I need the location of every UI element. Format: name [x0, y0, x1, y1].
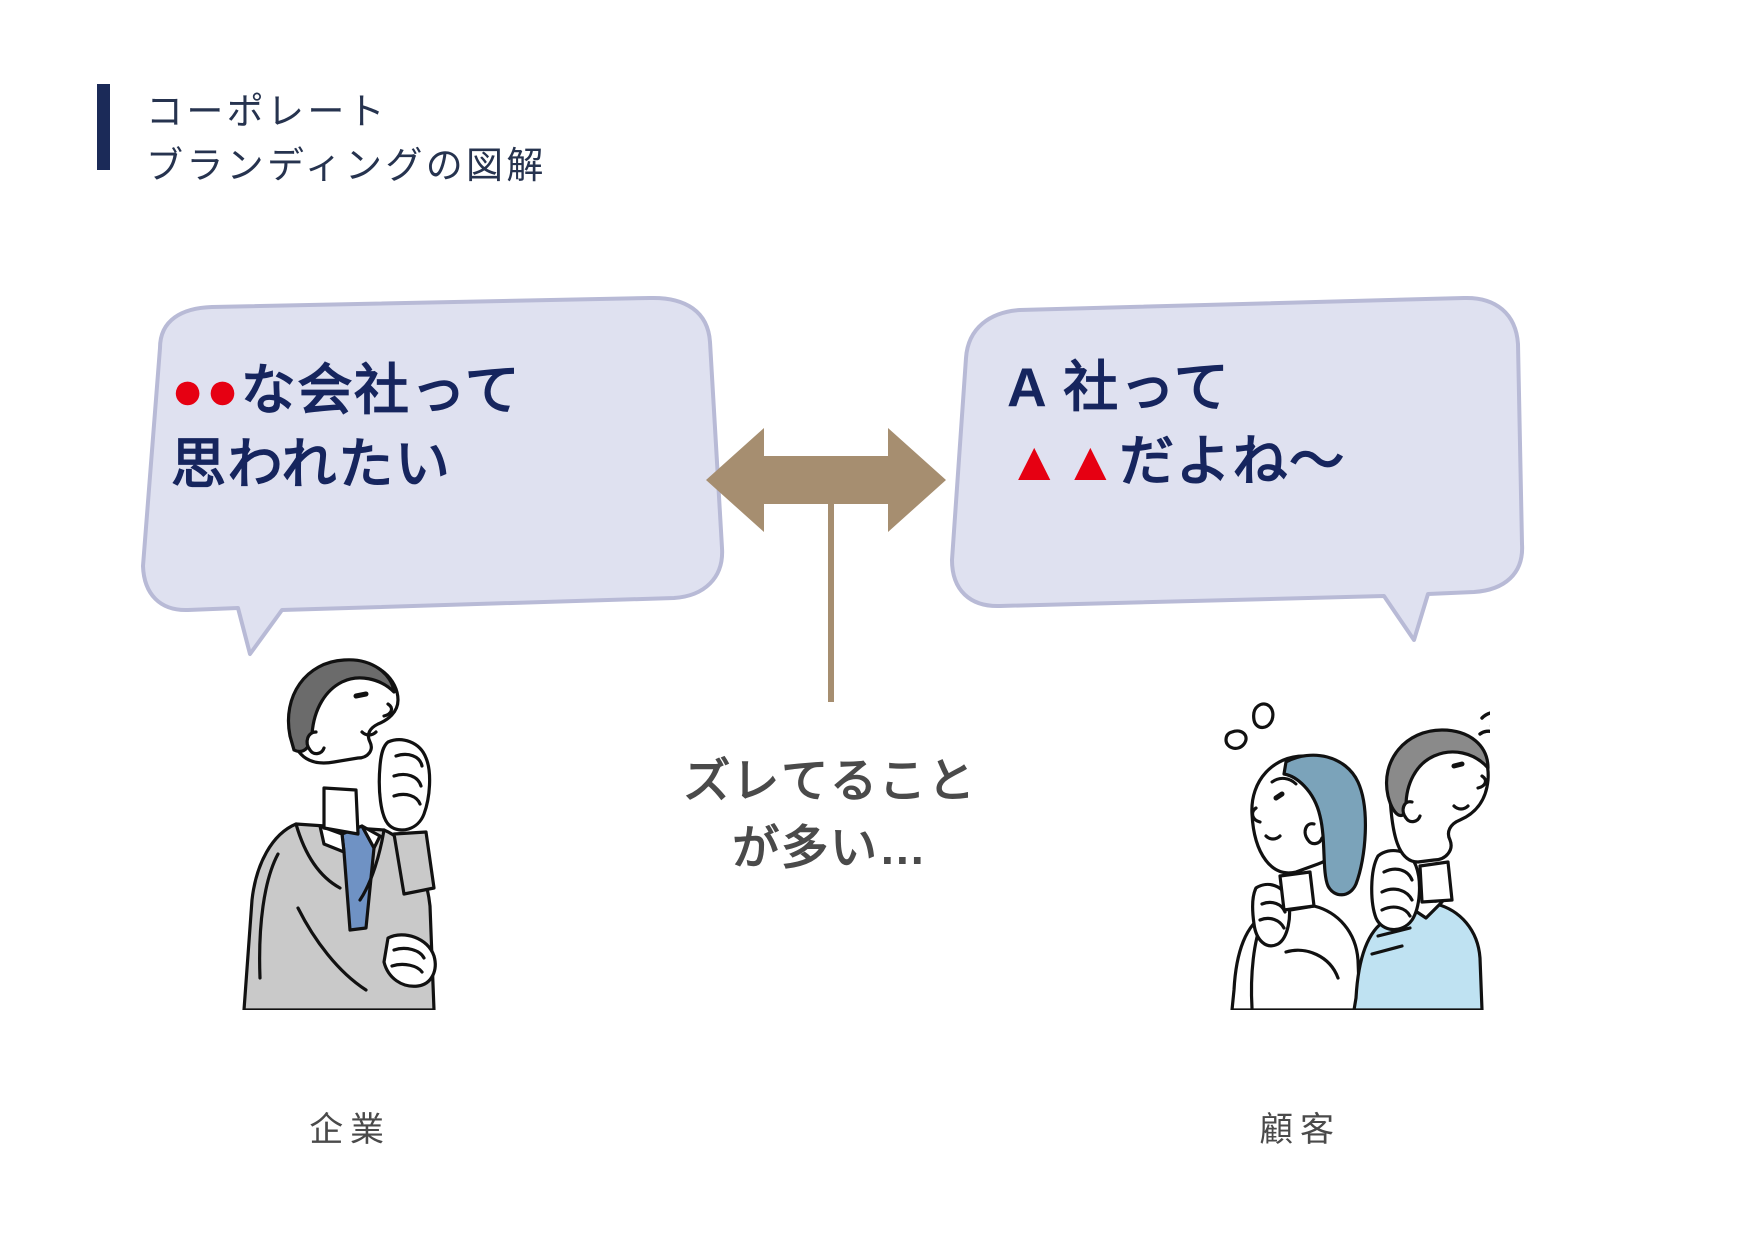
double-headed-arrow-icon — [706, 424, 946, 536]
speech-bubble-company: ●●な会社って 思われたい — [130, 296, 730, 651]
bubble-customer-line2: ▲▲だよね〜 — [1007, 425, 1346, 499]
bubble-company-line1: ●●な会社って — [171, 354, 521, 428]
misalignment-caption: ズレてること が多い… — [600, 748, 1060, 881]
bubble-customer-line2-text: だよね〜 — [1119, 430, 1346, 492]
label-customers: 顧客 — [1140, 1102, 1460, 1151]
bubble-company-line1-text: な会社って — [241, 359, 522, 421]
arrow-stem-line — [828, 480, 834, 702]
speech-bubble-customer-text: A 社って ▲▲だよね〜 — [1007, 351, 1346, 498]
illustration-customer-people — [1090, 690, 1490, 1010]
red-circle-marks: ●● — [171, 359, 241, 421]
two-customers-thinking-icon — [1090, 690, 1490, 1010]
red-triangle-marks: ▲▲ — [1007, 430, 1119, 492]
misalignment-arrow — [706, 424, 946, 536]
bubble-company-line2: 思われたい — [171, 428, 521, 502]
page-header: コーポレート ブランディングの図解 — [97, 84, 547, 192]
bubble-customer-line1: A 社って — [1007, 351, 1346, 425]
illustration-company-person — [238, 638, 468, 1010]
page-title: コーポレート ブランディングの図解 — [146, 84, 547, 192]
label-company: 企業 — [190, 1102, 510, 1151]
businessman-thinking-icon — [238, 638, 468, 1010]
speech-bubble-customer: A 社って ▲▲だよね〜 — [944, 296, 1524, 626]
title-accent-bar — [97, 84, 110, 170]
speech-bubble-company-text: ●●な会社って 思われたい — [171, 354, 521, 501]
infographic-canvas: コーポレート ブランディングの図解 ●●な会社って 思われたい A 社って ▲▲… — [0, 0, 1754, 1241]
